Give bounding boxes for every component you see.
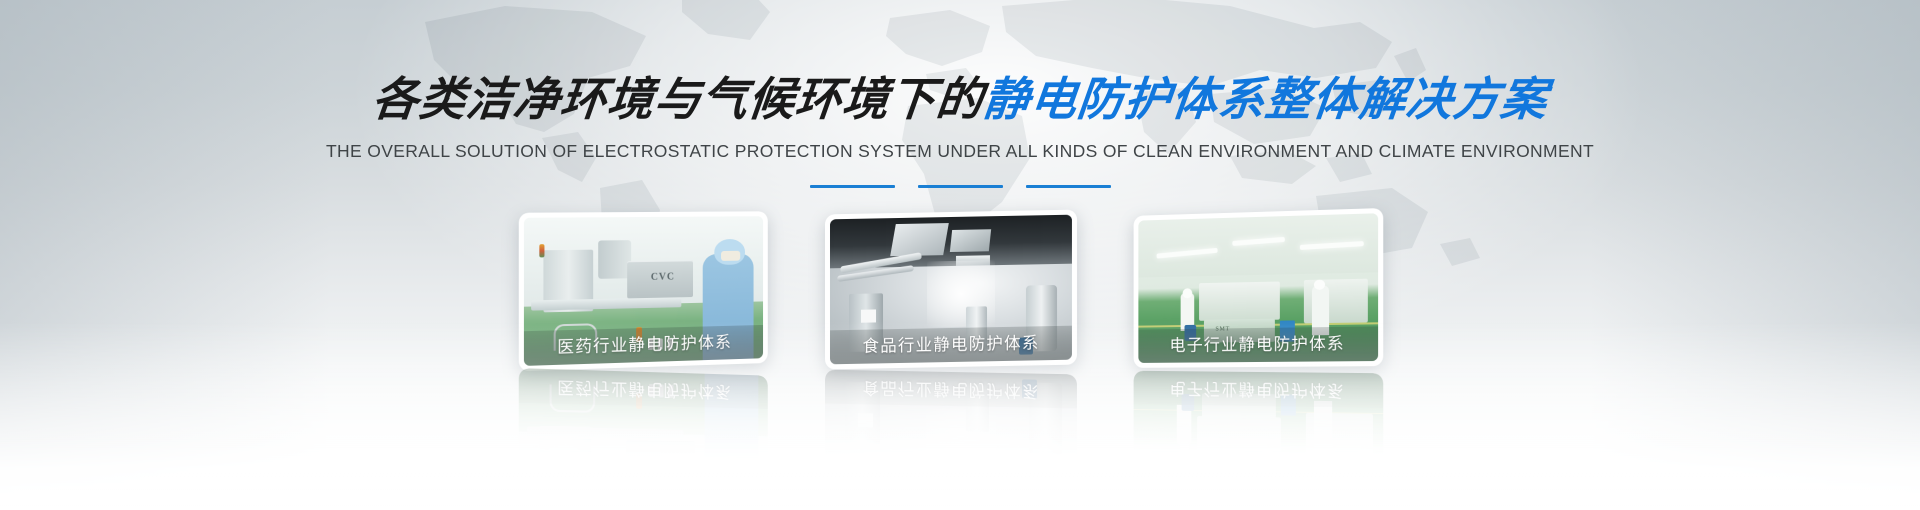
banner-headline: 各类洁净环境与气候环境下的静电防护体系整体解决方案 <box>0 76 1920 122</box>
headline-dark-segment: 各类洁净环境与气候环境下的 <box>370 73 986 125</box>
reflection-caption-electronics: 电子行业静电防护体系 <box>1134 371 1384 408</box>
divider-segment-1 <box>810 185 895 188</box>
card-reflections: 医药行业静电防护体系 食品行业静电防护体系 <box>520 372 1400 497</box>
reflection-pharmaceutical: 医药行业静电防护体系 <box>519 368 768 493</box>
reflection-food: 食品行业静电防护体系 <box>825 370 1077 495</box>
electronics-smt-line-photo: SMT 电子行业静电防护体系 <box>1138 213 1378 363</box>
divider-segment-3 <box>1026 185 1111 188</box>
industry-card-food[interactable]: 食品行业静电防护体系 <box>825 210 1077 370</box>
divider <box>0 185 1920 188</box>
reflection-caption-food: 食品行业静电防护体系 <box>825 370 1077 409</box>
hero-banner: 各类洁净环境与气候环境下的静电防护体系整体解决方案 THE OVERALL SO… <box>0 0 1920 510</box>
industry-card-pharmaceutical[interactable]: CVC 医药行业静电防护体系 <box>519 211 768 371</box>
headline-blue-segment: 静电防护体系整体解决方案 <box>981 73 1550 125</box>
reflection-caption-pharmaceutical: 医药行业静电防护体系 <box>519 368 768 409</box>
pharmaceutical-cleanroom-photo: CVC 医药行业静电防护体系 <box>524 216 763 366</box>
reflection-electronics: 电子行业静电防护体系 <box>1134 371 1384 496</box>
food-plant-cleanroom-photo: 食品行业静电防护体系 <box>830 215 1072 365</box>
photo-watermark-cvc: CVC <box>651 272 675 283</box>
card-caption-food: 食品行业静电防护体系 <box>830 326 1072 365</box>
industry-card-electronics[interactable]: SMT 电子行业静电防护体系 <box>1134 208 1384 368</box>
industry-card-row: CVC 医药行业静电防护体系 食品行业静电防护体系 <box>520 212 1400 372</box>
card-caption-pharmaceutical: 医药行业静电防护体系 <box>524 325 763 366</box>
divider-segment-2 <box>918 185 1003 188</box>
banner-subheadline: THE OVERALL SOLUTION OF ELECTROSTATIC PR… <box>0 141 1920 162</box>
card-caption-electronics: 电子行业静电防护体系 <box>1138 326 1378 363</box>
